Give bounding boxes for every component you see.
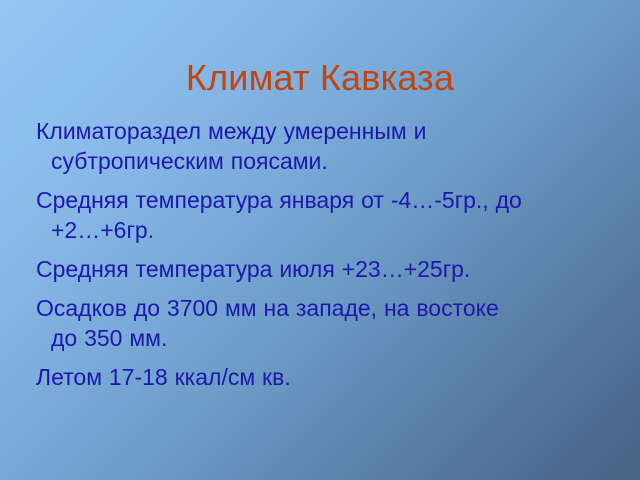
list-item: Летом 17-18 ккал/см кв. [30, 362, 530, 392]
list-item: Осадков до 3700 мм на западе, на востоке… [30, 293, 530, 353]
list-item: Средняя температура июля +23…+25гр. [30, 254, 530, 284]
list-item: Климатораздел между умеренным и субтропи… [30, 116, 530, 176]
list-item: Средняя температура января от -4…-5гр., … [30, 185, 530, 245]
presentation-slide: Климат Кавказа Климатораздел между умере… [0, 0, 640, 480]
slide-title-container: Климат Кавказа [0, 34, 640, 123]
page-title: Климат Кавказа [186, 58, 454, 98]
slide-body-content: Климатораздел между умеренным и субтропи… [30, 116, 530, 392]
